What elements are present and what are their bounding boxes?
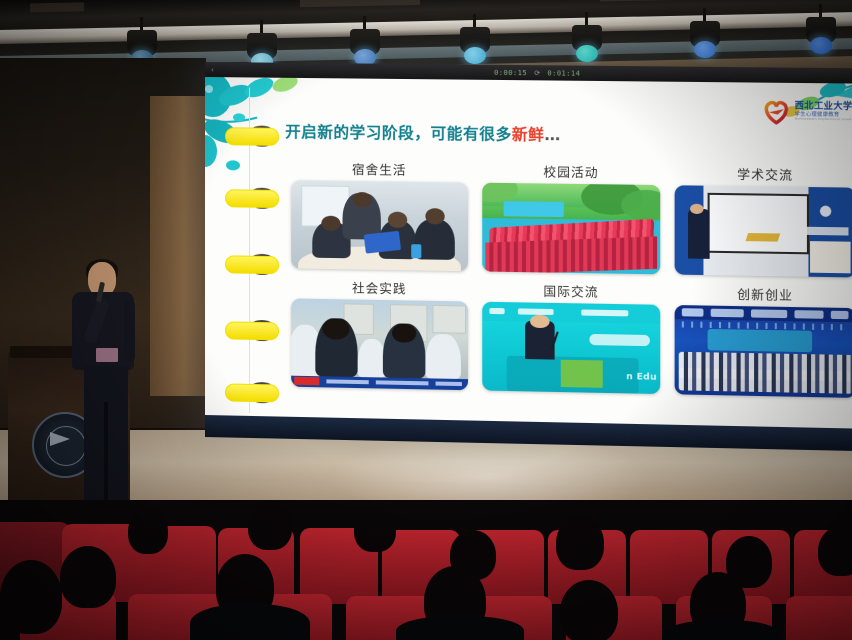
audience-shoulders — [396, 616, 524, 640]
slide-title: 开启新的学习阶段，可能有很多新鲜… — [285, 120, 561, 145]
ceiling-vent — [600, 0, 690, 1]
bullet-marker — [225, 255, 279, 272]
slide-title-main: 开启新的学习阶段，可能有很多 — [285, 123, 512, 144]
photo-card-dorm-life: 宿舍生活 — [291, 158, 468, 271]
slide-title-suffix: … — [544, 126, 560, 144]
presenter — [66, 262, 138, 510]
heart-logo-icon — [762, 99, 790, 125]
ceiling-vent — [300, 0, 420, 7]
slide-title-highlight: 新鲜 — [512, 126, 545, 145]
chevron-left-icon[interactable]: ‹ — [211, 66, 214, 74]
audience-shoulders — [664, 620, 780, 640]
photo-label: 社会实践 — [352, 277, 407, 297]
total-time: 0:01:14 — [547, 69, 580, 77]
ceiling-vent — [30, 2, 84, 12]
loop-icon[interactable]: ⟳ — [534, 69, 540, 77]
photo-card-innovation-entrepreneurship: 创新创业 — [675, 283, 852, 398]
audience-head — [556, 516, 604, 570]
photo-overlay-text: n Edu — [626, 373, 657, 384]
audience-head — [818, 526, 852, 576]
photo-label: 宿舍生活 — [352, 159, 407, 179]
bullet-marker — [225, 321, 279, 338]
photo-card-campus-activity: 校园活动 — [482, 160, 661, 274]
seat — [786, 596, 852, 640]
university-logo: 西北工业大学 学生心理健康教育 Northwestern Polytechnic… — [762, 99, 852, 126]
bullet-marker — [225, 383, 279, 400]
photo-label: 校园活动 — [543, 161, 598, 181]
audience-seating — [0, 500, 852, 640]
audience-shoulders — [190, 604, 310, 640]
audience-head — [128, 508, 168, 554]
wood-wall-panel — [150, 96, 212, 396]
social-practice-photo — [291, 298, 468, 390]
audience-head — [60, 546, 116, 608]
photo-label: 国际交流 — [543, 281, 598, 301]
photo-card-social-practice: 社会实践 — [291, 276, 468, 390]
photo-card-academic-exchange: 学术交流 — [675, 163, 852, 278]
elapsed-time: 0:00:15 — [494, 68, 527, 76]
audience-head — [354, 506, 396, 552]
audience-head — [248, 502, 292, 550]
photo-grid: 宿舍生活 校园活动 — [291, 158, 852, 398]
slide-content: 开启新的学习阶段，可能有很多新鲜… 西北工业大学 学生心理健康教育 Northw… — [205, 77, 852, 429]
photo-grid-row: 社会实践 — [291, 276, 852, 398]
logo-line-3: Northwestern Polytechnical University — [795, 118, 852, 122]
photo-label: 创新创业 — [737, 284, 793, 304]
dorm-life-photo — [291, 180, 468, 271]
bullet-marker — [225, 127, 279, 144]
photo-grid-row: 宿舍生活 校园活动 — [291, 158, 852, 277]
bullet-marker — [225, 189, 279, 206]
academic-exchange-photo — [675, 185, 852, 277]
lecture-hall-scene: ‹ 0:00:15 ⟳ 0:01:14 — [0, 0, 852, 640]
international-exchange-photo: n Edu — [482, 302, 661, 394]
audience-head — [0, 560, 62, 634]
photo-label: 学术交流 — [737, 164, 793, 184]
photo-card-international-exchange: 国际交流 n Edu — [482, 280, 661, 395]
innovation-entrepreneurship-photo — [675, 305, 852, 398]
campus-activity-photo — [482, 183, 661, 275]
projection-screen: ‹ 0:00:15 ⟳ 0:01:14 — [205, 62, 852, 451]
audience-head — [560, 580, 618, 640]
